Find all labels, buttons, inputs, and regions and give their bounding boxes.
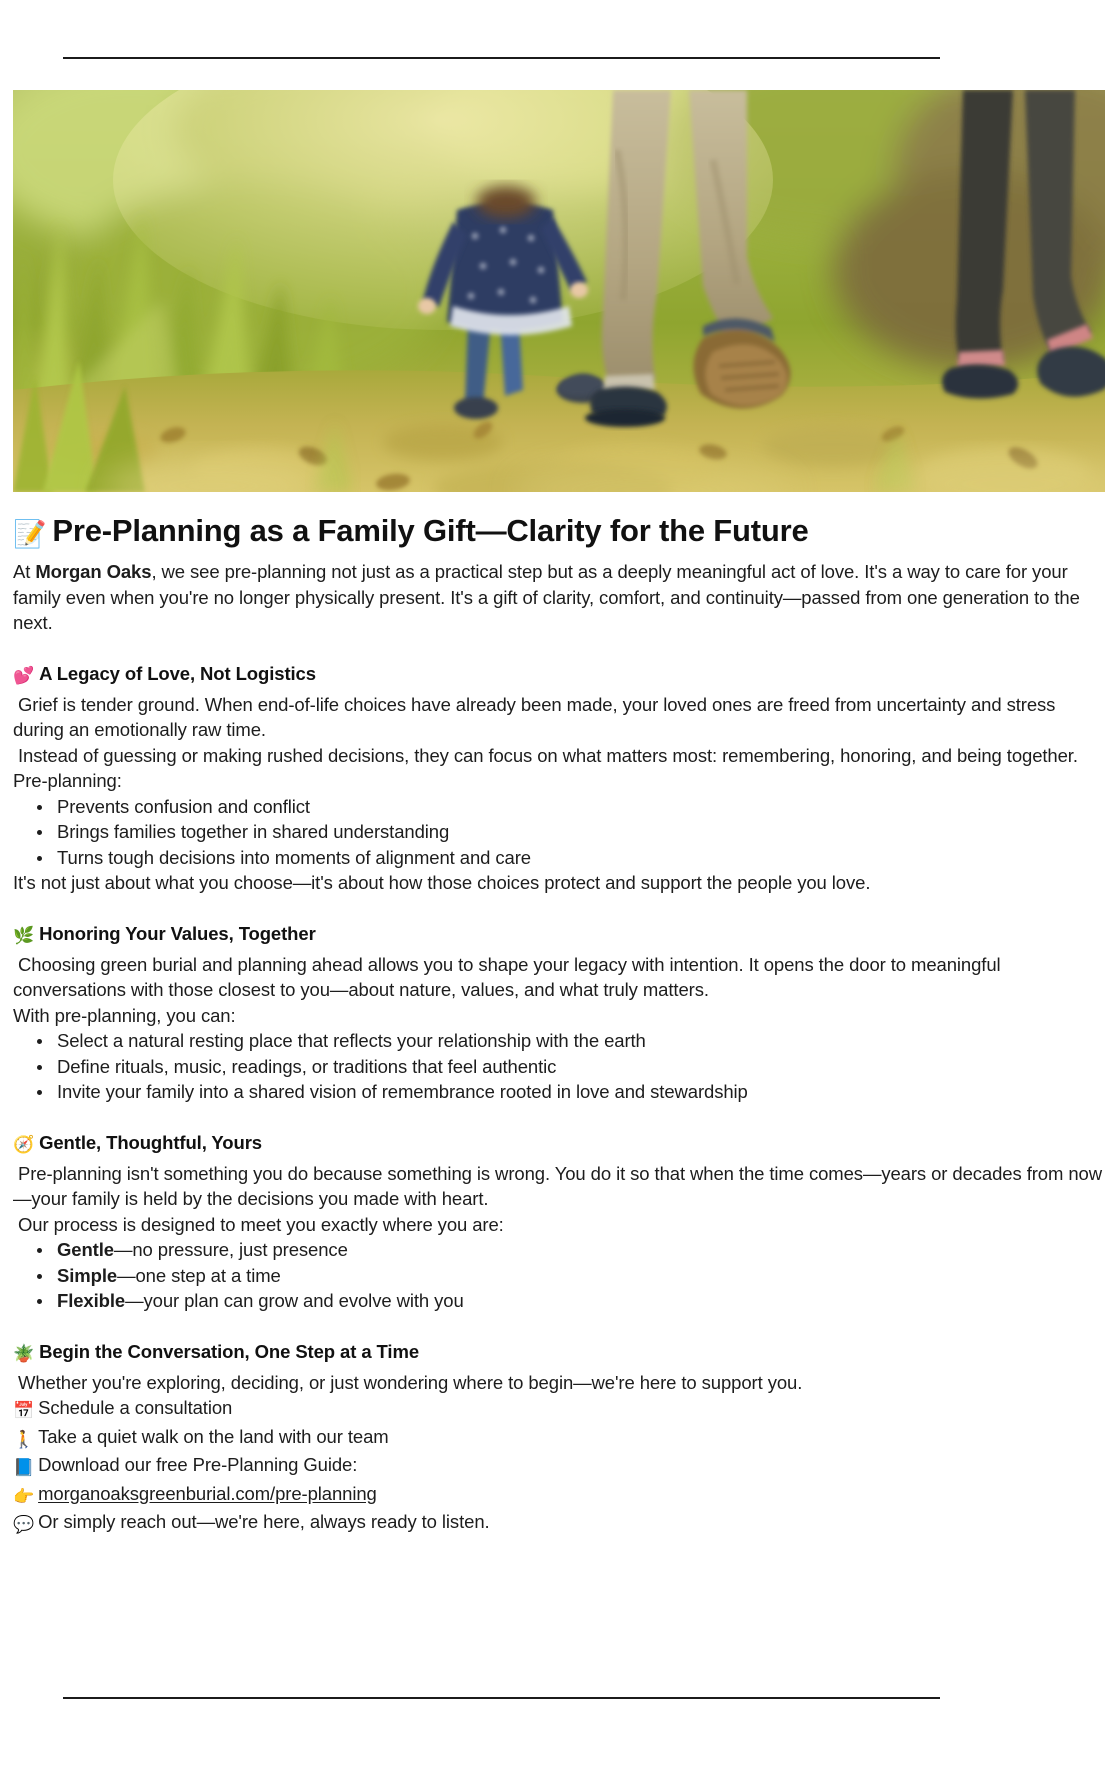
legacy-paragraph-2: Instead of guessing or making rushed dec… — [13, 743, 1105, 769]
list-item-text: Brings families together in shared under… — [57, 821, 449, 842]
list-item-lead: Simple — [57, 1265, 117, 1286]
cta-item-schedule[interactable]: 📅Schedule a consultation — [13, 1395, 1105, 1424]
page-title-text: Pre-Planning as a Family Gift—Clarity fo… — [52, 513, 808, 548]
section-heading-legacy: 💕A Legacy of Love, Not Logistics — [13, 662, 1105, 688]
bottom-divider-rule — [63, 1697, 940, 1699]
list-item-text: Invite your family into a shared vision … — [57, 1081, 748, 1102]
cta-item-download[interactable]: 📘Download our free Pre-Planning Guide: — [13, 1452, 1105, 1481]
cta-item-walk[interactable]: 🚶Take a quiet walk on the land with our … — [13, 1424, 1105, 1453]
legacy-bullet-list: Prevents confusion and conflict Brings f… — [13, 794, 1105, 871]
section-heading-legacy-text: A Legacy of Love, Not Logistics — [39, 663, 316, 684]
cta-item-label: Download our free Pre-Planning Guide: — [38, 1454, 357, 1475]
cta-item-label: Schedule a consultation — [38, 1397, 232, 1418]
hero-image — [13, 90, 1105, 492]
calendar-icon: 📅 — [13, 1401, 34, 1420]
section-heading-cta: 🪴Begin the Conversation, One Step at a T… — [13, 1340, 1105, 1366]
pre-planning-link[interactable]: morganoaksgreenburial.com/pre-planning — [38, 1483, 377, 1504]
values-paragraph-1: Choosing green burial and planning ahead… — [13, 952, 1105, 1003]
intro-rest: , we see pre-planning not just as a prac… — [13, 561, 1080, 633]
list-item-text: Turns tough decisions into moments of al… — [57, 847, 531, 868]
list-item-text: —one step at a time — [117, 1265, 281, 1286]
document-page: 📝Pre-Planning as a Family Gift—Clarity f… — [0, 0, 1120, 1768]
article-content: 📝Pre-Planning as a Family Gift—Clarity f… — [13, 513, 1105, 1538]
pointing-right-icon: 👉 — [13, 1487, 34, 1506]
potted-plant-icon: 🪴 — [13, 1344, 34, 1363]
list-item: Select a natural resting place that refl… — [35, 1028, 1105, 1054]
legacy-paragraph-1: Grief is tender ground. When end-of-life… — [13, 692, 1105, 743]
list-item-text: Define rituals, music, readings, or trad… — [57, 1056, 556, 1077]
list-item: Flexible—your plan can grow and evolve w… — [35, 1288, 1105, 1314]
list-item: Brings families together in shared under… — [35, 819, 1105, 845]
section-heading-cta-text: Begin the Conversation, One Step at a Ti… — [39, 1341, 419, 1362]
values-bullet-list: Select a natural resting place that refl… — [13, 1028, 1105, 1105]
gentle-bullet-list: Gentle—no pressure, just presence Simple… — [13, 1237, 1105, 1314]
cta-item-link[interactable]: 👉morganoaksgreenburial.com/pre-planning — [13, 1481, 1105, 1510]
list-item-text: Prevents confusion and conflict — [57, 796, 310, 817]
values-paragraph-2: With pre-planning, you can: — [13, 1003, 1105, 1029]
hero-illustration — [13, 90, 1105, 492]
blue-book-icon: 📘 — [13, 1458, 34, 1477]
section-heading-gentle-text: Gentle, Thoughtful, Yours — [39, 1132, 262, 1153]
cta-intro: Whether you're exploring, deciding, or j… — [13, 1370, 1105, 1396]
list-item-text: Select a natural resting place that refl… — [57, 1030, 646, 1051]
section-heading-values-text: Honoring Your Values, Together — [39, 923, 316, 944]
two-hearts-icon: 💕 — [13, 666, 34, 685]
intro-paragraph: At Morgan Oaks, we see pre-planning not … — [13, 559, 1105, 636]
list-item-lead: Gentle — [57, 1239, 114, 1260]
cta-item-label: Take a quiet walk on the land with our t… — [38, 1426, 389, 1447]
intro-prefix: At — [13, 561, 35, 582]
gentle-paragraph-2: Our process is designed to meet you exac… — [13, 1212, 1105, 1238]
list-item-lead: Flexible — [57, 1290, 125, 1311]
list-item: Turns tough decisions into moments of al… — [35, 845, 1105, 871]
list-item: Simple—one step at a time — [35, 1263, 1105, 1289]
compass-icon: 🧭 — [13, 1135, 34, 1154]
list-item: Gentle—no pressure, just presence — [35, 1237, 1105, 1263]
gentle-paragraph-1: Pre-planning isn't something you do beca… — [13, 1161, 1105, 1212]
legacy-paragraph-3: Pre-planning: — [13, 768, 1105, 794]
cta-item-label: Or simply reach out—we're here, always r… — [38, 1511, 489, 1532]
list-item-text: —your plan can grow and evolve with you — [125, 1290, 464, 1311]
section-heading-gentle: 🧭Gentle, Thoughtful, Yours — [13, 1131, 1105, 1157]
section-heading-values: 🌿Honoring Your Values, Together — [13, 922, 1105, 948]
herb-icon: 🌿 — [13, 926, 34, 945]
page-title: 📝Pre-Planning as a Family Gift—Clarity f… — [13, 513, 1105, 550]
list-item-text: —no pressure, just presence — [114, 1239, 348, 1260]
memo-icon: 📝 — [13, 519, 46, 549]
top-divider-rule — [63, 57, 940, 59]
legacy-closing: It's not just about what you choose—it's… — [13, 870, 1105, 896]
brand-name: Morgan Oaks — [35, 561, 151, 582]
cta-item-reach-out[interactable]: 💬Or simply reach out—we're here, always … — [13, 1509, 1105, 1538]
list-item: Prevents confusion and conflict — [35, 794, 1105, 820]
walking-person-icon: 🚶 — [13, 1430, 34, 1449]
speech-balloon-icon: 💬 — [13, 1515, 34, 1534]
list-item: Define rituals, music, readings, or trad… — [35, 1054, 1105, 1080]
list-item: Invite your family into a shared vision … — [35, 1079, 1105, 1105]
